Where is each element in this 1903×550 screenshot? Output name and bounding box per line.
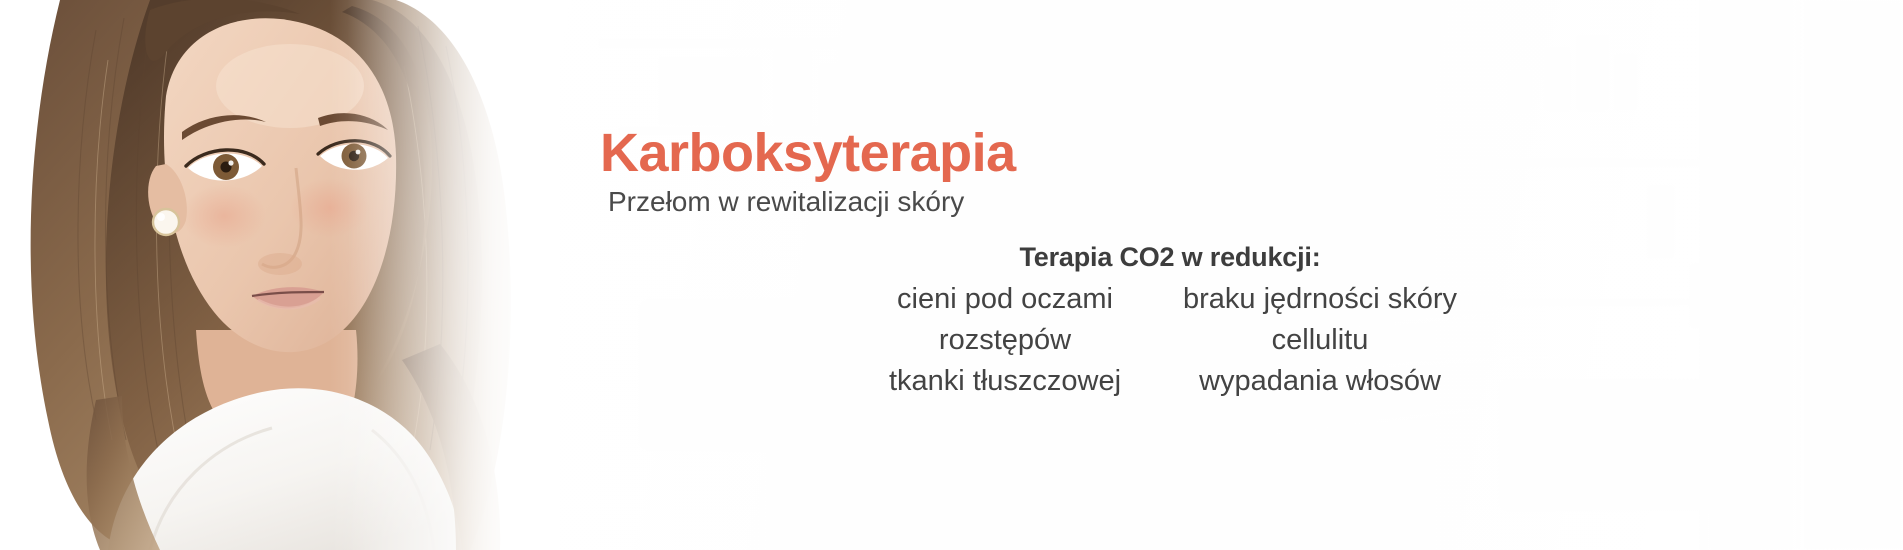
benefit-item: rozstępów (855, 320, 1155, 361)
benefit-row: cieni pod oczami braku jędrności skóry (855, 279, 1485, 320)
benefit-item: cellulitu (1155, 320, 1485, 361)
benefit-item: braku jędrności skóry (1155, 279, 1485, 320)
hero-banner: Karboksyterapia Przełom w rewitalizacji … (0, 0, 1903, 550)
benefit-row: rozstępów cellulitu (855, 320, 1485, 361)
headline-block: Karboksyterapia Przełom w rewitalizacji … (600, 125, 1260, 218)
benefits-block: Terapia CO2 w redukcji: cieni pod oczami… (855, 242, 1485, 403)
model-portrait (0, 0, 560, 550)
page-subtitle: Przełom w rewitalizacji skóry (608, 186, 1260, 218)
benefit-item: tkanki tłuszczowej (855, 361, 1155, 402)
benefit-item: cieni pod oczami (855, 279, 1155, 320)
benefit-item: wypadania włosów (1155, 361, 1485, 402)
page-title: Karboksyterapia (600, 125, 1260, 182)
benefit-row: tkanki tłuszczowej wypadania włosów (855, 361, 1485, 402)
benefits-title: Terapia CO2 w redukcji: (855, 242, 1485, 273)
